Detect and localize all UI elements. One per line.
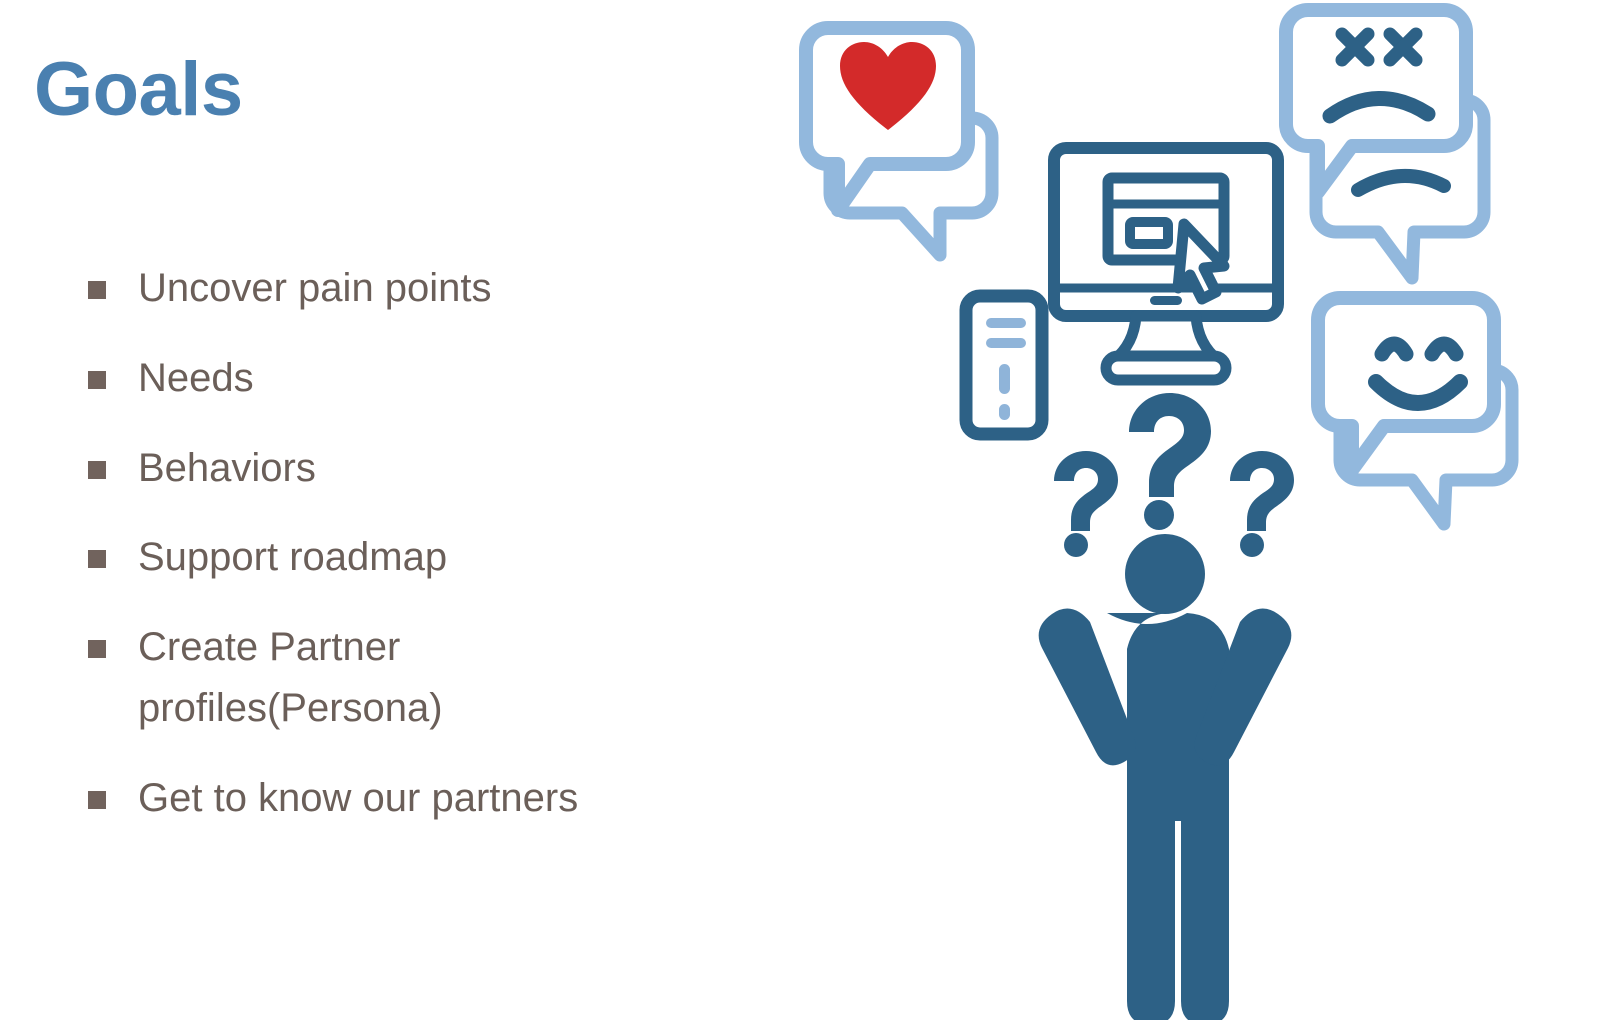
monitor-icon <box>1054 148 1278 380</box>
list-item: Uncover pain points <box>62 258 742 319</box>
text-column: Goals Uncover pain points Needs Behavior… <box>0 0 760 1020</box>
list-item-label: Needs <box>138 348 528 409</box>
person-head <box>1125 534 1205 614</box>
list-item: Get to know our partners <box>62 768 742 829</box>
desktop-computer-icon <box>966 148 1278 434</box>
confused-person-icon <box>1039 393 1294 1020</box>
question-mark-icon <box>1054 451 1118 557</box>
list-item-label: Create Partner profiles(Persona) <box>138 617 528 739</box>
list-item: Behaviors <box>62 438 742 499</box>
slide-canvas: Goals Uncover pain points Needs Behavior… <box>0 0 1600 1020</box>
person-left-arm <box>1039 609 1136 766</box>
question-mark-icon <box>1230 451 1294 557</box>
list-item-label: Behaviors <box>138 438 528 499</box>
square-bullet-icon <box>88 550 106 568</box>
person-body <box>1107 613 1229 1020</box>
goals-illustration <box>780 0 1600 1020</box>
goals-bullet-list: Uncover pain points Needs Behaviors Supp… <box>62 258 742 858</box>
square-bullet-icon <box>88 461 106 479</box>
square-bullet-icon <box>88 791 106 809</box>
list-item: Support roadmap <box>62 527 742 588</box>
list-item-label: Get to know our partners <box>138 768 698 829</box>
list-item-label: Support roadmap <box>138 527 528 588</box>
happy-face-chat-bubbles-icon <box>1318 298 1512 524</box>
list-item: Needs <box>62 348 742 409</box>
square-bullet-icon <box>88 281 106 299</box>
sad-face-chat-bubbles-icon <box>1286 10 1484 278</box>
question-mark-icon <box>1129 393 1211 530</box>
list-item: Create Partner profiles(Persona) <box>62 617 742 739</box>
page-title: Goals <box>34 52 243 128</box>
square-bullet-icon <box>88 371 106 389</box>
pc-tower-icon <box>966 296 1042 434</box>
list-item-label: Uncover pain points <box>138 258 528 319</box>
square-bullet-icon <box>88 640 106 658</box>
heart-chat-bubbles-icon <box>806 28 992 255</box>
